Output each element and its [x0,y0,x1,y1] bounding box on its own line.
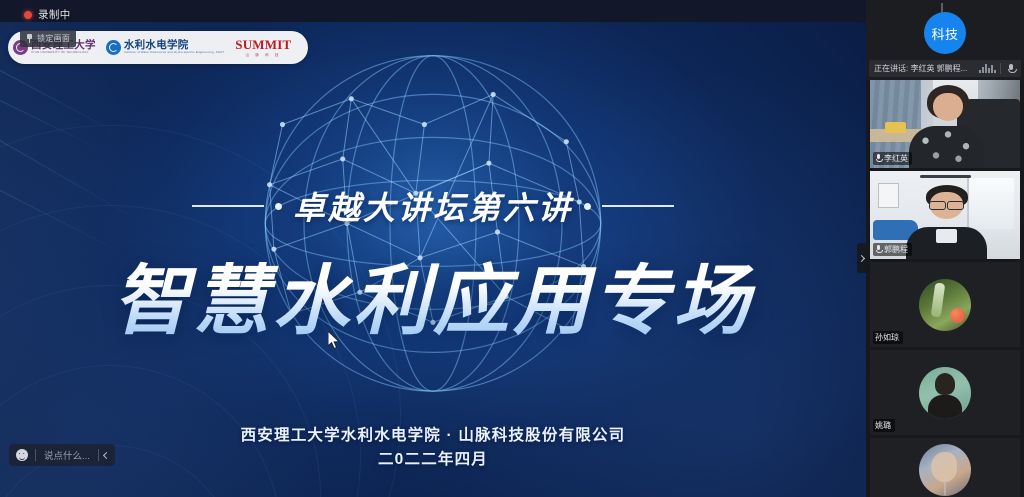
audio-waveform-icon [975,64,1000,73]
host-avatar: 科技 [924,12,966,54]
chat-input-placeholder[interactable]: 说点什么... [36,448,98,462]
mouse-cursor [328,331,341,350]
speaking-status-bar: 正在讲话: 李红英 郭鹏程... [869,60,1021,77]
slide-subtitle: 卓越大讲坛第六讲 [293,183,573,229]
pin-icon [26,34,33,43]
summit-wordmark: SUMMIT [235,38,291,51]
microphone-icon[interactable] [1001,64,1021,74]
chevron-down-icon[interactable] [945,477,946,495]
recording-label: 录制中 [38,7,71,22]
lock-screen-label: 锁定画面 [37,33,70,44]
avatar [919,279,971,331]
slide-subtitle-row: 卓越大讲坛第六讲 [0,183,866,229]
logo-institute-name-en: Institute of Water Resources and Hydro-e… [124,51,224,54]
microphone-icon [875,154,881,163]
institute-seal-icon [106,40,121,55]
rail-collapse-handle[interactable] [857,243,866,273]
rule-left [192,205,264,207]
host-tile[interactable]: 科技 正在讲话: 李红英 郭鹏程... [866,0,1024,80]
chevron-up-icon[interactable] [942,4,949,11]
participant-name-badge: 李红英 [873,152,912,165]
logo-university-name-en: XI'AN UNIVERSITY OF TECHNOLOGY [31,51,96,54]
chevron-right-icon [858,254,865,261]
meeting-window: 西安理工大学 XI'AN UNIVERSITY OF TECHNOLOGY 水利… [0,0,1024,497]
shared-screen-stage: 西安理工大学 XI'AN UNIVERSITY OF TECHNOLOGY 水利… [0,0,866,497]
logo-summit: SUMMIT 山 脉 科 技 [229,38,297,58]
participant-name-badge: 郭鹏程 [873,243,912,256]
slide-title: 智慧水利应用专场 [0,239,866,349]
participant-tile-video[interactable]: 郭鹏程 [870,171,1020,259]
decorative-streaks [0,60,300,360]
participant-name: 姚璐 [875,420,891,431]
slide-footer-block: 西安理工大学水利水电学院 · 山脉科技股份有限公司 二0二二年四月 [0,424,866,472]
rule-right [602,205,674,207]
avatar [919,367,971,419]
dot-left [275,203,282,210]
emoji-smiley-icon[interactable] [9,444,35,466]
slide-footer-line-1: 西安理工大学水利水电学院 · 山脉科技股份有限公司 [0,424,866,448]
participant-rail[interactable]: 科技 正在讲话: 李红英 郭鹏程... [866,0,1024,497]
top-status-bar [0,0,866,22]
participant-tile-avatar[interactable]: 孙如琼 [870,262,1020,347]
participant-tile-video[interactable]: 李红英 [870,80,1020,168]
logo-institute: 水利水电学院 Institute of Water Resources and … [101,31,229,64]
slide-headline-block: 卓越大讲坛第六讲 智慧水利应用专场 [0,183,866,349]
participant-tile-avatar[interactable]: 姚璐 [870,350,1020,435]
recording-dot-icon [24,11,32,19]
participant-name-badge: 孙如琼 [873,331,903,344]
lock-screen-button[interactable]: 锁定画面 [20,30,76,47]
recording-indicator: 录制中 [24,7,71,22]
chevron-left-icon[interactable] [99,444,115,466]
participant-name-badge: 姚璐 [873,419,895,432]
globe-wireframe-graphic [218,17,648,447]
participant-name: 李红英 [884,153,908,164]
summit-subtext: 山 脉 科 技 [246,53,282,58]
participant-name: 孙如琼 [875,332,899,343]
dot-right [584,203,591,210]
speaking-status-text: 正在讲话: 李红英 郭鹏程... [869,63,975,74]
host-avatar-text: 科技 [931,24,958,43]
slide-footer-line-2: 二0二二年四月 [0,448,866,472]
chat-input-bar[interactable]: 说点什么... [9,444,115,466]
microphone-icon [875,245,881,254]
participant-name: 郭鹏程 [884,244,908,255]
participant-tile-partial[interactable] [870,438,1020,497]
